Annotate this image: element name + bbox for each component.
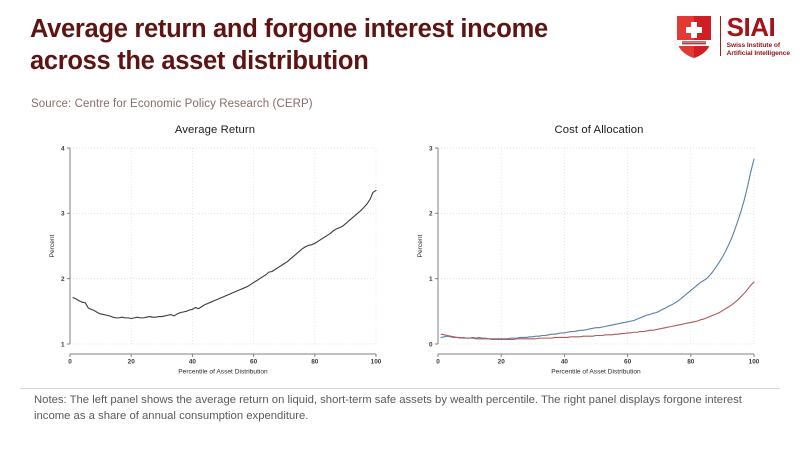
svg-text:0: 0 [429, 341, 433, 348]
source-caption: Source: Centre for Economic Policy Resea… [31, 98, 313, 110]
svg-text:4: 4 [61, 145, 65, 152]
logo-tagline-line-2: Artificial Intelligence [727, 50, 790, 58]
svg-text:100: 100 [749, 359, 760, 366]
svg-text:40: 40 [561, 359, 569, 366]
svg-text:2: 2 [429, 211, 433, 218]
slide-header: Average return and forgone interest inco… [0, 0, 800, 120]
logo-divider [720, 16, 721, 56]
svg-text:80: 80 [687, 359, 695, 366]
svg-text:1: 1 [61, 341, 65, 348]
svg-text:20: 20 [128, 359, 136, 366]
notes-text: Notes: The left panel shows the average … [34, 392, 776, 425]
siai-logo: SIAI Swiss Institute of Artificial Intel… [674, 12, 790, 60]
logo-tagline-line-1: Swiss Institute of [727, 42, 790, 50]
chart-panel-cost-of-allocation: Cost of Allocation 0123020406080100Perce… [408, 124, 790, 386]
svg-text:Percentile of Asset Distributi: Percentile of Asset Distribution [551, 369, 641, 376]
svg-text:Percent: Percent [417, 234, 424, 257]
svg-text:20: 20 [498, 359, 506, 366]
svg-text:40: 40 [189, 359, 197, 366]
cost-of-allocation-plot: 0123020406080100Percentile of Asset Dist… [408, 140, 790, 386]
logo-brand-name: SIAI [727, 14, 790, 40]
logo-text-block: SIAI Swiss Institute of Artificial Intel… [727, 14, 790, 58]
notes-divider [20, 388, 780, 389]
average-return-plot: 1234020406080100Percentile of Asset Dist… [40, 140, 390, 386]
svg-text:3: 3 [429, 145, 433, 152]
swiss-shield-icon [674, 13, 714, 59]
svg-text:80: 80 [311, 359, 319, 366]
svg-text:1: 1 [429, 276, 433, 283]
svg-text:0: 0 [436, 359, 440, 366]
svg-text:0: 0 [68, 359, 72, 366]
chart-title-left: Average Return [40, 124, 390, 136]
slide-root: Average return and forgone interest inco… [0, 0, 800, 450]
svg-text:100: 100 [371, 359, 382, 366]
chart-panel-average-return: Average Return 1234020406080100Percentil… [40, 124, 390, 386]
svg-text:3: 3 [61, 211, 65, 218]
page-title-line-1: Average return and forgone interest inco… [30, 14, 670, 46]
svg-text:Percentile of Asset Distributi: Percentile of Asset Distribution [178, 369, 268, 376]
svg-text:Percent: Percent [49, 234, 56, 257]
chart-title-right: Cost of Allocation [408, 124, 790, 136]
svg-text:60: 60 [250, 359, 258, 366]
page-title-line-2: across the asset distribution [30, 46, 670, 78]
svg-text:60: 60 [624, 359, 632, 366]
page-title: Average return and forgone interest inco… [30, 14, 670, 78]
svg-text:2: 2 [61, 276, 65, 283]
